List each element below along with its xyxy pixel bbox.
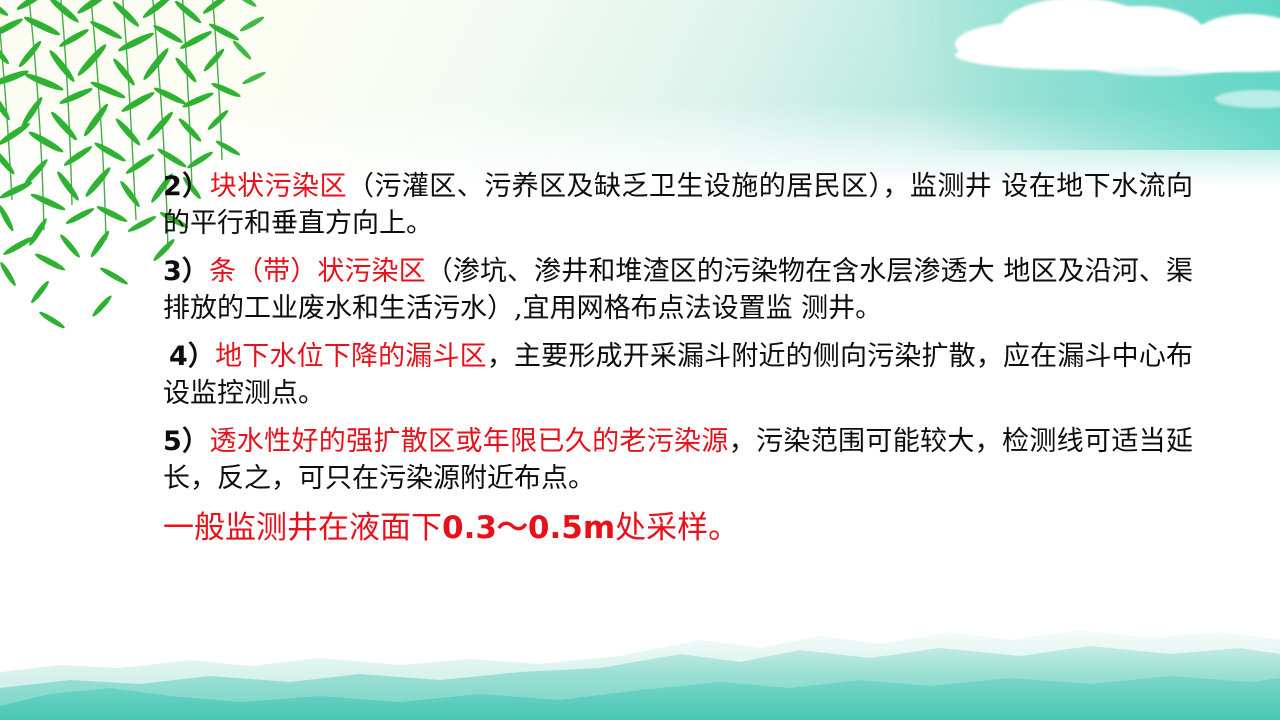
list-item: 5）透水性好的强扩散区或年限已久的老污染源，污染范围可能较大，检测线可适当延长，…	[163, 423, 1193, 497]
highlight-term: 条（带）状污染区	[209, 256, 426, 287]
closing-tail: 处采样。	[615, 510, 739, 546]
closing-statement: 一般监测井在液面下0.3～0.5m处采样。	[163, 508, 1193, 548]
list-marker: 3）	[163, 256, 209, 287]
highlight-term: 透水性好的强扩散区或年限已久的老污染源	[209, 426, 728, 457]
mountain-range-icon	[0, 610, 1280, 720]
depth-range-value: 0.3～0.5m	[442, 510, 615, 546]
sky-teal-accent	[860, 0, 1280, 150]
closing-lead: 一般监测井在液面下	[163, 510, 442, 546]
slide-canvas: 2）块状污染区（污灌区、污养区及缺乏卫生设施的居民区），监测井 设在地下水流向的…	[0, 0, 1280, 720]
list-marker: 4）	[169, 341, 215, 372]
list-marker: 5）	[163, 426, 209, 457]
list-item: 2）块状污染区（污灌区、污养区及缺乏卫生设施的居民区），监测井 设在地下水流向的…	[163, 168, 1193, 242]
slide-body: 2）块状污染区（污灌区、污养区及缺乏卫生设施的居民区），监测井 设在地下水流向的…	[163, 168, 1193, 548]
highlight-term: 块状污染区	[210, 171, 347, 202]
list-item: 3）条（带）状污染区（渗坑、渗井和堆渣区的污染物在含水层渗透大 地区及沿河、渠排…	[163, 253, 1193, 327]
highlight-term: 地下水位下降的漏斗区	[215, 341, 487, 372]
list-marker: 2）	[163, 171, 210, 202]
list-item: 4）地下水位下降的漏斗区，主要形成开采漏斗附近的侧向污染扩散，应在漏斗中心布设监…	[163, 338, 1193, 412]
